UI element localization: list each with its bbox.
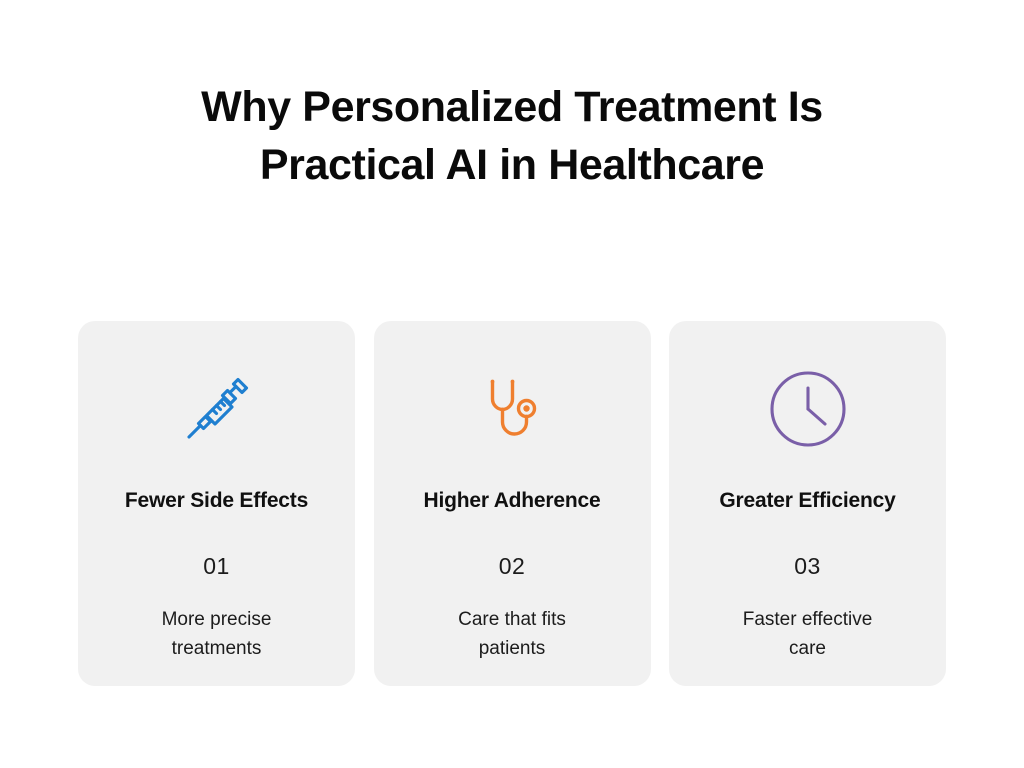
feature-card-greater-efficiency[interactable]: Greater Efficiency 03 Faster effective c… <box>669 321 946 686</box>
slide-canvas: Why Personalized Treatment Is Practical … <box>0 0 1024 768</box>
card-number: 01 <box>203 515 229 581</box>
feature-cards-row: Fewer Side Effects 01 More precise treat… <box>78 321 946 686</box>
card-description: Care that fits patients <box>458 581 566 663</box>
card-number: 03 <box>794 515 820 581</box>
feature-card-fewer-side-effects[interactable]: Fewer Side Effects 01 More precise treat… <box>78 321 355 686</box>
page-title: Why Personalized Treatment Is Practical … <box>0 78 1024 194</box>
stethoscope-icon <box>466 363 558 455</box>
heading-container: Why Personalized Treatment Is Practical … <box>0 78 1024 194</box>
card-title: Fewer Side Effects <box>125 465 308 515</box>
card-title: Higher Adherence <box>424 465 601 515</box>
card-description: Faster effective care <box>743 581 873 663</box>
card-description: More precise treatments <box>162 581 272 663</box>
card-title: Greater Efficiency <box>719 465 895 515</box>
clock-icon <box>762 363 854 455</box>
feature-card-higher-adherence[interactable]: Higher Adherence 02 Care that fits patie… <box>374 321 651 686</box>
card-number: 02 <box>499 515 525 581</box>
syringe-icon <box>171 363 263 455</box>
